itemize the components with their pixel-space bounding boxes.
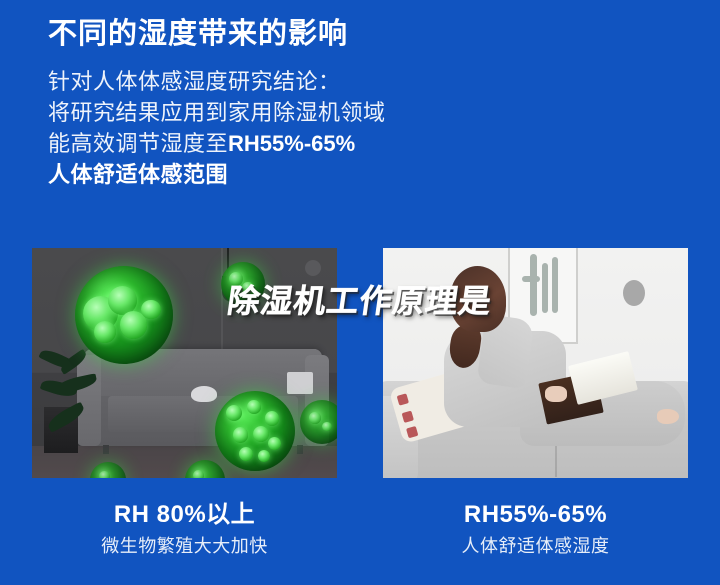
caption-right-sub: 人体舒适体感湿度	[383, 533, 688, 559]
person-hand	[545, 386, 567, 402]
header-block: 不同的湿度带来的影响 针对人体体感湿度研究结论： 将研究结果应用到家用除湿机领域…	[48, 16, 688, 190]
page-title: 不同的湿度带来的影响	[48, 16, 688, 52]
caption-right-main: RH55%-65%	[383, 500, 688, 530]
poster-root: 不同的湿度带来的影响 针对人体体感湿度研究结论： 将研究结果应用到家用除湿机领域…	[0, 0, 720, 585]
side-table-object	[287, 372, 313, 394]
body-line-2: 将研究结果应用到家用除湿机领域	[48, 97, 688, 128]
sofa-arm-left	[77, 355, 101, 446]
body-line-3-prefix: 能高效调节湿度至	[48, 131, 228, 156]
header-body: 针对人体体感湿度研究结论： 将研究结果应用到家用除湿机领域 能高效调节湿度至RH…	[48, 66, 688, 190]
humidity-range-highlight: RH55%-65%	[228, 131, 355, 156]
body-line-4: 人体舒适体感范围	[48, 159, 688, 190]
microbe-icon	[75, 266, 173, 364]
caption-right: RH55%-65% 人体舒适体感湿度	[383, 500, 688, 559]
sofa-leg-right	[297, 445, 303, 454]
person-foot	[657, 409, 679, 424]
wall-knob-icon	[305, 260, 321, 276]
body-line-1: 针对人体体感湿度研究结论：	[48, 66, 688, 97]
microbe-icon	[215, 391, 295, 471]
sofa-leg-left	[103, 445, 109, 454]
body-line-3: 能高效调节湿度至RH55%-65%	[48, 128, 688, 159]
captions-row: RH 80%以上 微生物繁殖大大加快 RH55%-65% 人体舒适体感湿度	[0, 500, 720, 585]
overlay-headline: 除湿机工作原理是	[225, 276, 495, 322]
caption-left: RH 80%以上 微生物繁殖大大加快	[32, 500, 337, 559]
caption-left-main: RH 80%以上	[32, 500, 337, 530]
microbe-icon	[300, 400, 337, 444]
caption-left-sub: 微生物繁殖大大加快	[32, 533, 337, 559]
sofa-throw	[191, 386, 217, 402]
